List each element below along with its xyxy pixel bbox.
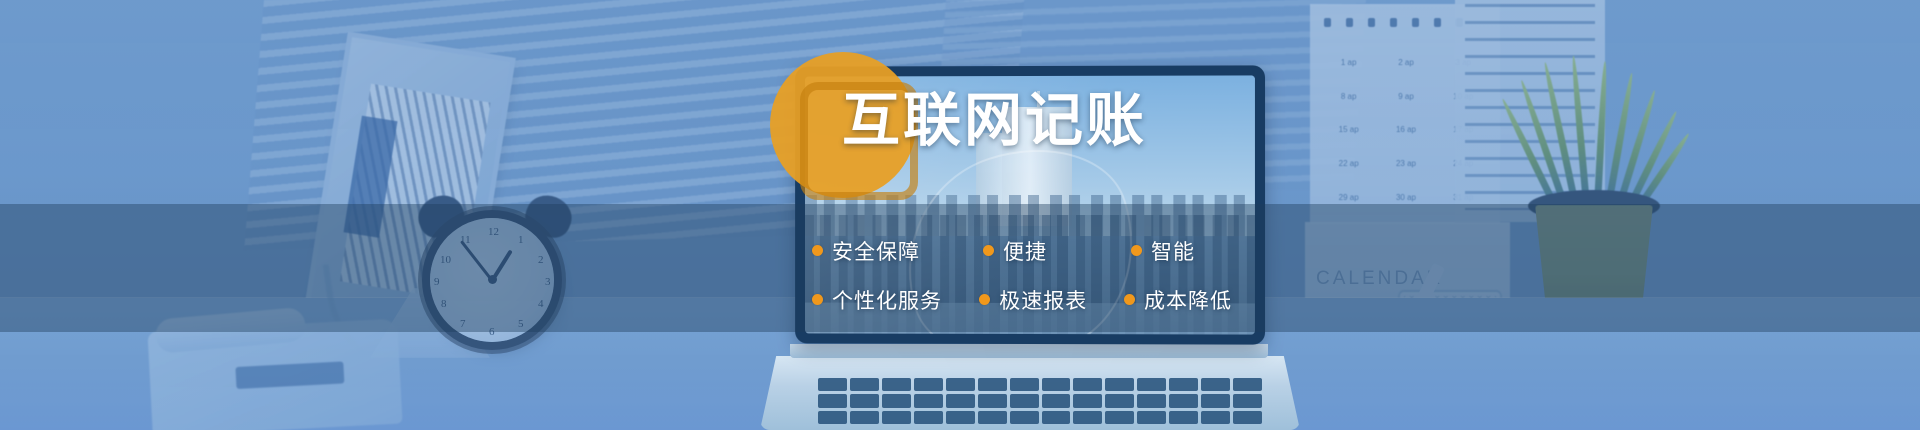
feature-item-convenient: 便捷 bbox=[983, 236, 1131, 266]
feature-item-cost-reduction: 成本降低 bbox=[1124, 285, 1232, 315]
dot-icon bbox=[812, 245, 823, 256]
feature-item-fast-reports: 极速报表 bbox=[979, 285, 1124, 315]
feature-item-security: 安全保障 bbox=[812, 236, 983, 266]
feature-label: 便捷 bbox=[1003, 236, 1047, 266]
dot-icon bbox=[812, 294, 823, 305]
dot-icon bbox=[1124, 294, 1135, 305]
page-title: 互联网记账 bbox=[842, 92, 1147, 150]
dot-icon bbox=[979, 294, 990, 305]
feature-label: 极速报表 bbox=[999, 285, 1087, 315]
dot-icon bbox=[1131, 245, 1142, 256]
feature-label: 个性化服务 bbox=[832, 285, 942, 315]
feature-item-intelligent: 智能 bbox=[1131, 236, 1195, 266]
feature-label: 安全保障 bbox=[832, 236, 920, 266]
feature-label: 成本降低 bbox=[1144, 285, 1232, 315]
feature-label: 智能 bbox=[1151, 236, 1195, 266]
dot-icon bbox=[983, 245, 994, 256]
feature-row: 个性化服务 极速报表 成本降低 bbox=[812, 275, 1232, 324]
feature-item-personalized-service: 个性化服务 bbox=[812, 285, 979, 315]
feature-list: 安全保障 便捷 智能 个性化服务 极速报表 bbox=[812, 226, 1232, 324]
feature-row: 安全保障 便捷 智能 bbox=[812, 226, 1232, 275]
hero-banner: 1 ap 2 ap 3 ap 8 ap 9 ap 10 ap 15 ap 16 … bbox=[0, 0, 1920, 430]
banner-content: 互联网记账 安全保障 便捷 智能 个性化服务 bbox=[0, 0, 1920, 430]
